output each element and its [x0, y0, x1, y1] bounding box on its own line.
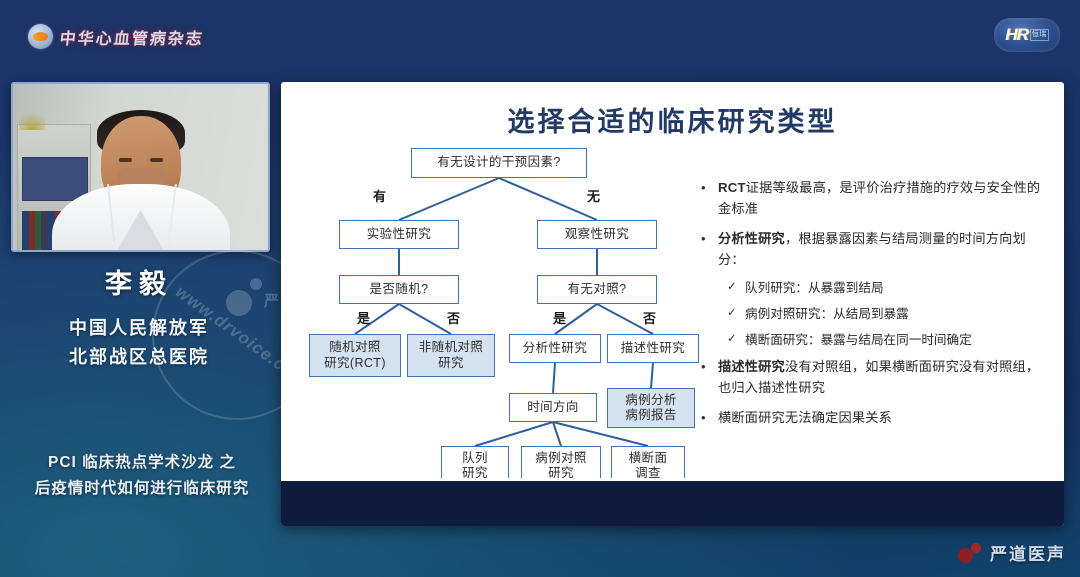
bullet-text: 分析性研究，根据暴露因素与结局测量的时间方向划分：	[718, 229, 1049, 271]
flow-node-random_q: 是否随机?	[339, 275, 459, 304]
flow-edge-label: 有	[373, 186, 387, 205]
bullet-text-rest: 证据等级最高，是评价治疗措施的疗效与安全性的金标准	[718, 180, 1040, 216]
speaker-info: 李毅 中国人民解放军 北部战区总医院	[0, 262, 278, 371]
heart-seal-icon	[28, 24, 53, 49]
sponsor-mark-text: HR	[1005, 25, 1028, 45]
drvoice-brand: 严道医声	[958, 540, 1066, 565]
sub-bullet-item: ✓横断面研究：暴露与结局在同一时间确定	[727, 331, 1049, 350]
sub-bullet-text: 队列研究：从暴露到结局	[745, 279, 884, 298]
session-title-line-1: PCI 临床热点学术沙龙 之	[8, 450, 276, 476]
drvoice-dots-icon	[958, 543, 984, 563]
bullet-dot-icon: •	[701, 357, 710, 399]
bullet-text-rest: 横断面研究无法确定因果关系	[718, 410, 892, 425]
brand-dot-small	[971, 543, 981, 553]
top-header-bar: 中华心血管病杂志 HR 恒瑞	[0, 0, 1080, 70]
session-title-line-2: 后疫情时代如何进行临床研究	[8, 476, 276, 502]
speaker-org-line-1: 中国人民解放军	[0, 315, 278, 342]
bullet-text: RCT证据等级最高，是评价治疗措施的疗效与安全性的金标准	[718, 178, 1049, 220]
sub-bullet-item: ✓队列研究：从暴露到结局	[727, 279, 1049, 298]
sponsor-logo-icon: HR 恒瑞	[994, 18, 1060, 52]
slide-bullet-list: •RCT证据等级最高，是评价治疗措施的疗效与安全性的金标准•分析性研究，根据暴露…	[701, 178, 1049, 438]
bullet-dot-icon: •	[701, 229, 710, 271]
plant-decor	[19, 108, 45, 130]
flow-node-rct: 随机对照 研究(RCT)	[309, 334, 401, 377]
session-title: PCI 临床热点学术沙龙 之 后疫情时代如何进行临床研究	[8, 450, 276, 501]
speaker-video-feed[interactable]	[11, 82, 270, 252]
bullet-text-bold: RCT	[718, 180, 746, 195]
journal-logo-text: 中华心血管病杂志	[59, 25, 206, 49]
slide-footer-band	[281, 478, 1064, 526]
bullet-dot-icon: •	[701, 408, 710, 429]
speaker-organization: 中国人民解放军 北部战区总医院	[0, 315, 278, 371]
flow-node-time_dir: 时间方向	[509, 393, 597, 422]
check-icon: ✓	[727, 331, 738, 350]
sub-bullet-item: ✓病例对照研究：从结局到暴露	[727, 305, 1049, 324]
flow-edge-label: 是	[553, 308, 567, 327]
flow-edge-label: 是	[357, 308, 371, 327]
sub-bullet-text: 病例对照研究：从结局到暴露	[745, 305, 909, 324]
bullet-text-bold: 描述性研究	[718, 359, 785, 374]
presentation-slide[interactable]: 选择合适的临床研究类型 有无设计的干预因素?实验性研究观察性研究是否随机?有无对…	[281, 82, 1064, 526]
slide-title: 选择合适的临床研究类型	[281, 100, 1064, 139]
bullet-text: 描述性研究没有对照组，如果横断面研究没有对照组，也归入描述性研究	[718, 357, 1049, 399]
flow-node-root: 有无设计的干预因素?	[411, 148, 587, 178]
flow-node-nonrandom: 非随机对照 研究	[407, 334, 495, 377]
flow-node-descriptive: 描述性研究	[607, 334, 699, 363]
speaker-eye-right	[150, 158, 163, 162]
bullet-item: •分析性研究，根据暴露因素与结局测量的时间方向划分：	[701, 229, 1049, 271]
speaker-name: 李毅	[0, 262, 278, 301]
research-type-flowchart: 有无设计的干预因素?实验性研究观察性研究是否随机?有无对照?随机对照 研究(RC…	[299, 148, 699, 478]
bullet-item: •RCT证据等级最高，是评价治疗措施的疗效与安全性的金标准	[701, 178, 1049, 220]
check-icon: ✓	[727, 305, 738, 324]
sponsor-cn-text: 恒瑞	[1030, 29, 1049, 40]
bullet-item: •横断面研究无法确定因果关系	[701, 408, 1049, 429]
bullet-dot-icon: •	[701, 178, 710, 220]
bullet-text: 横断面研究无法确定因果关系	[718, 408, 1049, 429]
flow-node-obs: 观察性研究	[537, 220, 657, 249]
flow-edge-label: 否	[447, 308, 461, 327]
sub-bullet-text: 横断面研究：暴露与结局在同一时间确定	[745, 331, 972, 350]
bullet-text-bold: 分析性研究	[718, 231, 785, 246]
bullet-item: •描述性研究没有对照组，如果横断面研究没有对照组，也归入描述性研究	[701, 357, 1049, 399]
video-background	[13, 84, 268, 250]
flow-edge-label: 无	[587, 186, 601, 205]
webinar-page: 中华心血管病杂志 HR 恒瑞 李毅 中国人民解放军 北部战区总医院	[0, 0, 1080, 577]
flow-node-analytic: 分析性研究	[509, 334, 601, 363]
flow-node-case_report: 病例分析 病例报告	[607, 388, 695, 428]
speaker-org-line-2: 北部战区总医院	[0, 344, 278, 371]
check-icon: ✓	[727, 279, 738, 298]
brand-text: 严道医声	[990, 540, 1066, 565]
journal-logo: 中华心血管病杂志	[28, 24, 204, 49]
flow-node-exp: 实验性研究	[339, 220, 459, 249]
flow-edge-label: 否	[643, 308, 657, 327]
speaker-eye-left	[119, 158, 132, 162]
flow-node-control_q: 有无对照?	[537, 275, 657, 304]
